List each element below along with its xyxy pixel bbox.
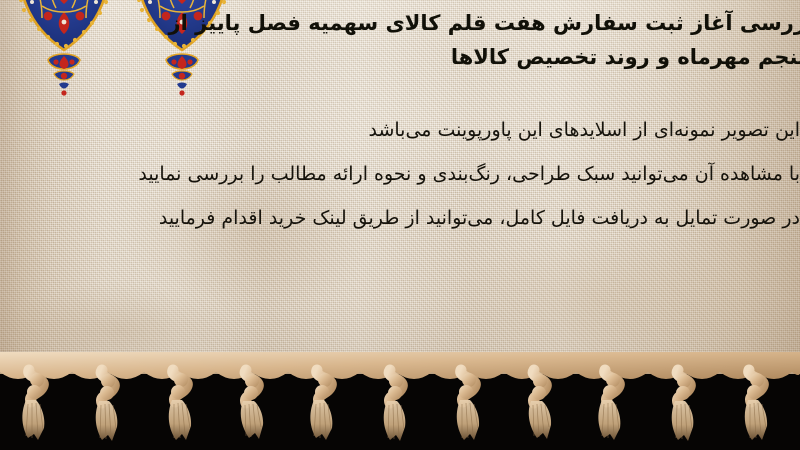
- body-line-1: این تصویر نمونه‌ای از اسلایدهای این پاور…: [4, 108, 800, 152]
- text-layer: ررسی آغاز ثبت سفارش هفت قلم کالای سهمیه …: [0, 0, 800, 374]
- slide-body: این تصویر نمونه‌ای از اسلایدهای این پاور…: [0, 108, 800, 240]
- body-line-2: با مشاهده آن می‌توانید سبک طراحی، رنگ‌بن…: [4, 152, 800, 196]
- slide-canvas: ررسی آغاز ثبت سفارش هفت قلم کالای سهمیه …: [0, 0, 800, 450]
- body-line-3: در صورت تمایل به دریافت فایل کامل، می‌تو…: [4, 196, 800, 240]
- slide-title-line1: ررسی آغاز ثبت سفارش هفت قلم کالای سهمیه …: [169, 11, 800, 35]
- fringe-tassels-icon: [0, 352, 800, 450]
- slide-title-line2: پنجم مهرماه و روند تخصیص کالاها: [14, 40, 800, 74]
- carpet-fringe: [0, 352, 800, 450]
- slide-title: ررسی آغاز ثبت سفارش هفت قلم کالای سهمیه …: [6, 6, 800, 74]
